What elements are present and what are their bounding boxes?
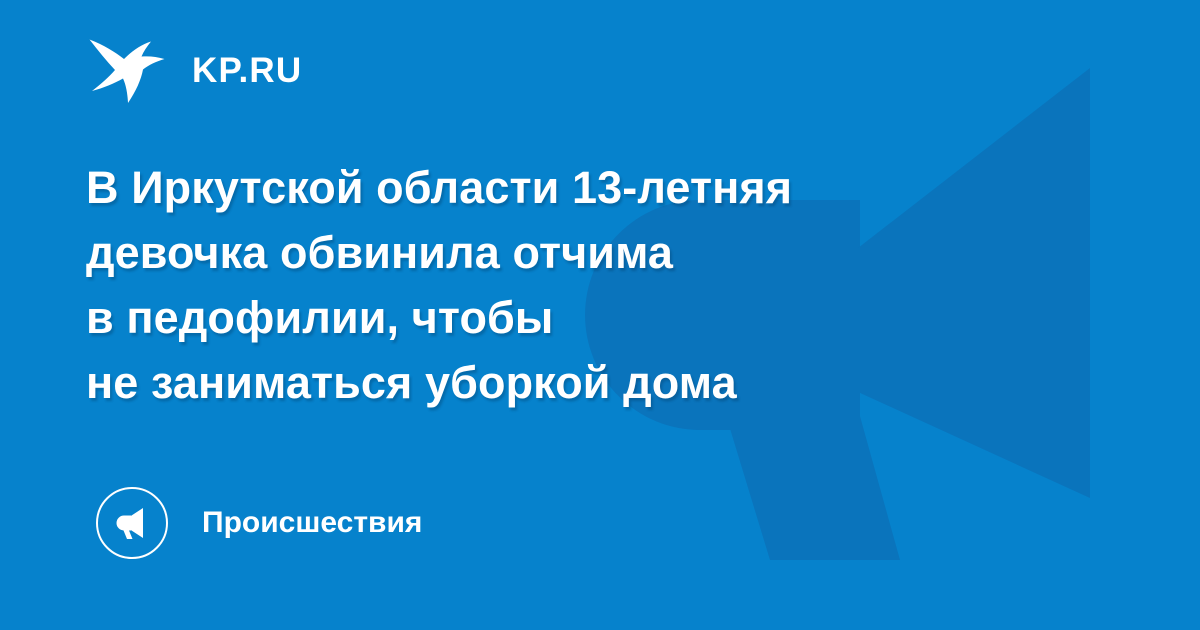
headline-line: в педофилии, чтобы bbox=[86, 285, 1046, 350]
category-icon-circle bbox=[96, 487, 168, 559]
headline-line: девочка обвинила отчима bbox=[86, 220, 1046, 285]
page-title: В Иркутской области 13-летняя девочка об… bbox=[86, 155, 1046, 415]
category-label: Происшествия bbox=[202, 508, 422, 538]
headline-line: В Иркутской области 13-летняя bbox=[86, 155, 1046, 220]
brand-name: KP.RU bbox=[192, 53, 302, 88]
news-share-card: KP.RU В Иркутской области 13-летняя дево… bbox=[0, 0, 1200, 630]
brand-header[interactable]: KP.RU bbox=[88, 34, 302, 106]
category-badge[interactable]: Происшествия bbox=[96, 486, 422, 560]
swallow-bird-icon bbox=[88, 36, 166, 104]
megaphone-icon bbox=[113, 504, 151, 542]
headline-line: не заниматься уборкой дома bbox=[86, 350, 1046, 415]
